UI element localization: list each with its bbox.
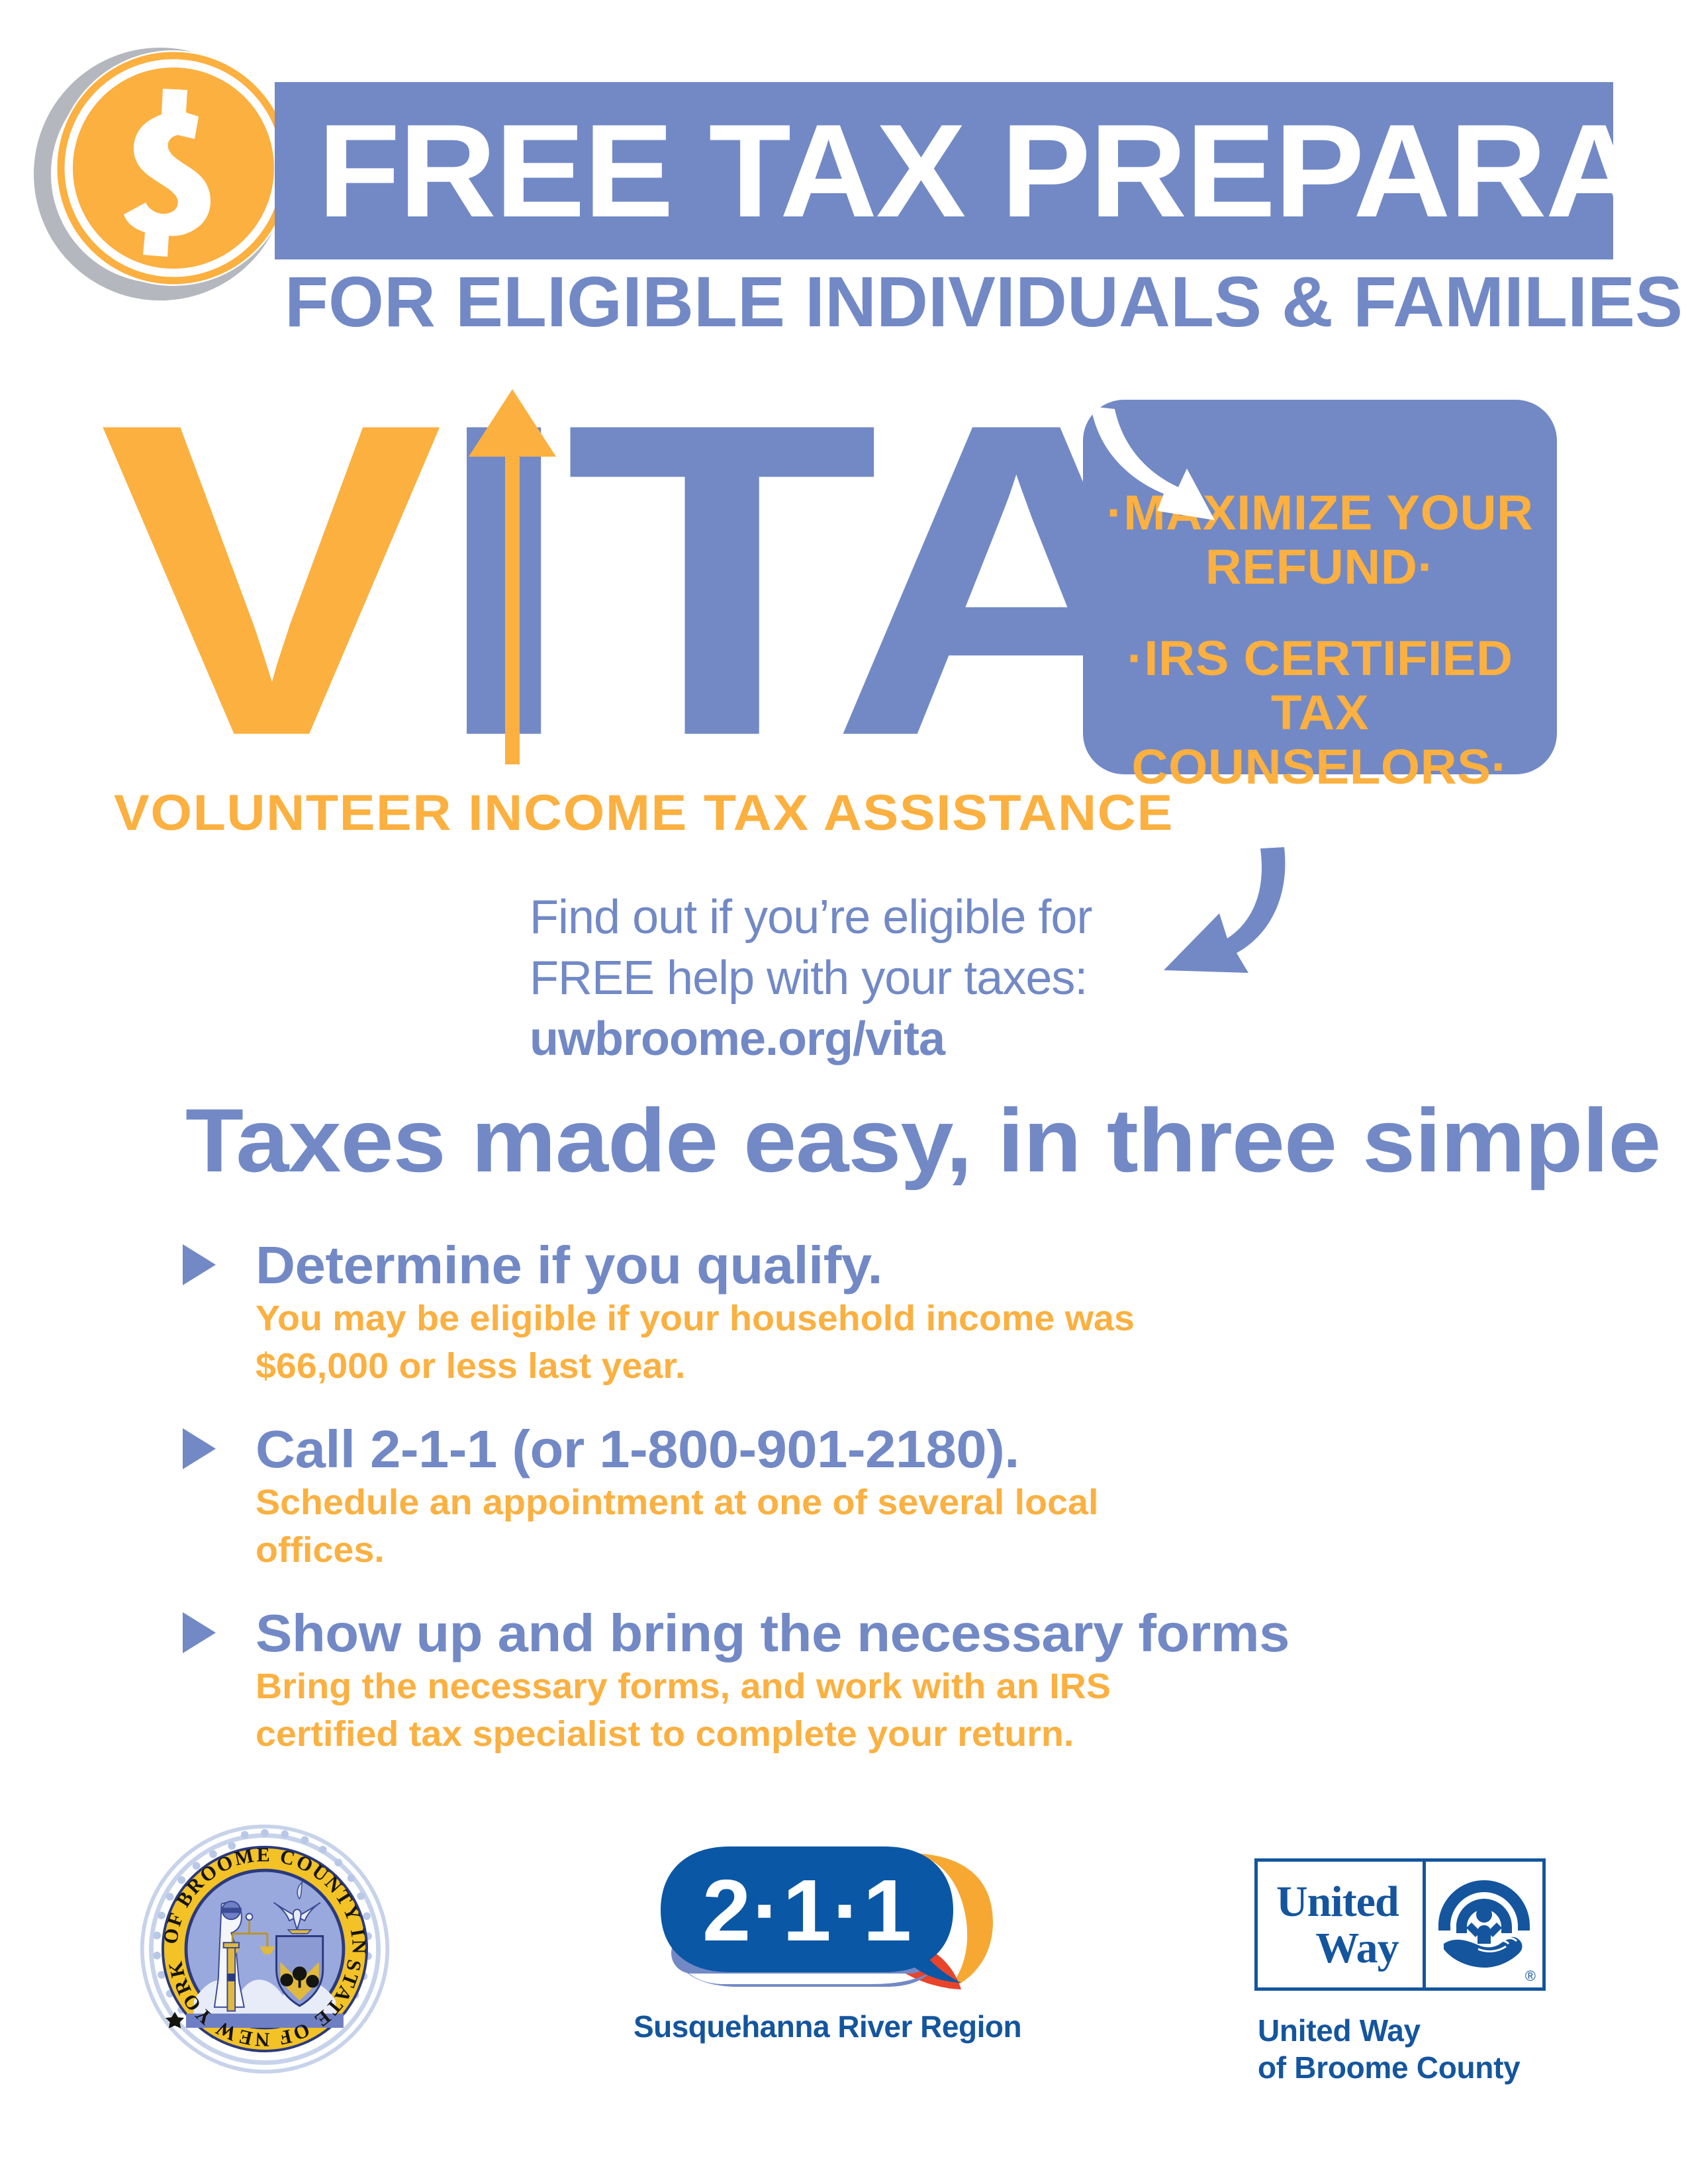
broome-county-seal-icon: SEAL OF BROOME COUNTY IN THE STATE OF NE… <box>136 1820 394 2078</box>
registered-trademark-symbol: ® <box>1525 1968 1536 1985</box>
211-logo: 2·1·1 Susquehanna River Region <box>622 1840 1033 2065</box>
step-title: Call 2-1-1 (or 1-800-901-2180). <box>256 1420 1557 1479</box>
step-description: You may be eligible if your household in… <box>256 1295 1210 1390</box>
dollar-coin-icon <box>33 38 298 303</box>
step-title: Determine if you qualify. <box>256 1236 1557 1295</box>
united-way-caption-line1: United Way <box>1258 2012 1549 2049</box>
curved-arrow-down-right-icon <box>1079 394 1278 547</box>
united-way-caption: United Way of Broome County <box>1258 2012 1549 2086</box>
211-speech-bubble-icon: 2·1·1 <box>622 1840 1033 2005</box>
united-way-wordmark: United Way <box>1276 1878 1404 1972</box>
triangle-bullet-icon <box>183 1428 216 1469</box>
flyer-page: FREE TAX PREPARATION FOR ELIGIBLE INDIVI… <box>0 0 1688 2184</box>
triangle-bullet-icon <box>183 1244 216 1285</box>
list-item: Determine if you qualify. You may be eli… <box>183 1236 1507 1390</box>
steps-headline: Taxes made easy, in three simple steps: <box>185 1091 1688 1190</box>
united-way-caption-line2: of Broome County <box>1258 2049 1549 2086</box>
callout-benefit-2: ·IRS CERTIFIED TAX COUNSELORS· <box>1076 631 1564 794</box>
vita-letters: VITA <box>99 371 1192 789</box>
united-way-icon-box: ® <box>1426 1862 1542 1987</box>
united-way-wordmark-line1: United <box>1276 1879 1399 1925</box>
211-caption: Susquehanna River Region <box>622 2009 1033 2044</box>
united-way-mark: United Way <box>1254 1858 1546 1991</box>
vita-wordmark: VITA <box>99 371 1092 781</box>
footer-logos: SEAL OF BROOME COUNTY IN THE STATE OF NE… <box>0 1800 1688 2091</box>
step-description: Schedule an appointment at one of severa… <box>256 1479 1210 1574</box>
united-way-logo: United Way <box>1254 1800 1559 2091</box>
united-way-wordmark-box: United Way <box>1258 1862 1426 1987</box>
eligibility-line-2: FREE help with your taxes: <box>530 948 1192 1009</box>
steps-list: Determine if you qualify. You may be eli… <box>183 1236 1507 1788</box>
step-title: Show up and bring the necessary forms <box>256 1604 1557 1662</box>
list-item: Show up and bring the necessary forms Br… <box>183 1604 1507 1758</box>
step-description: Bring the necessary forms, and work with… <box>256 1662 1210 1758</box>
eligibility-info: Find out if you’re eligible for FREE hel… <box>530 887 1192 1069</box>
united-way-wordmark-line2: Way <box>1276 1925 1399 1972</box>
svg-text:2·1·1: 2·1·1 <box>702 1862 913 1959</box>
united-way-hand-rainbow-icon <box>1434 1875 1534 1974</box>
page-title: FREE TAX PREPARATION <box>318 87 1641 256</box>
curved-arrow-down-left-icon <box>1119 841 1304 986</box>
eligibility-line-1: Find out if you’re eligible for <box>530 887 1192 948</box>
triangle-bullet-icon <box>183 1612 216 1653</box>
page-subtitle: FOR ELIGIBLE INDIVIDUALS & FAMILIES! <box>285 265 1615 339</box>
vita-tagline: VOLUNTEER INCOME TAX ASSISTANCE <box>114 784 1174 842</box>
vita-website-link[interactable]: uwbroome.org/vita <box>530 1009 1192 1069</box>
vita-letter-v: V <box>99 331 432 829</box>
list-item: Call 2-1-1 (or 1-800-901-2180). Schedule… <box>183 1420 1507 1574</box>
